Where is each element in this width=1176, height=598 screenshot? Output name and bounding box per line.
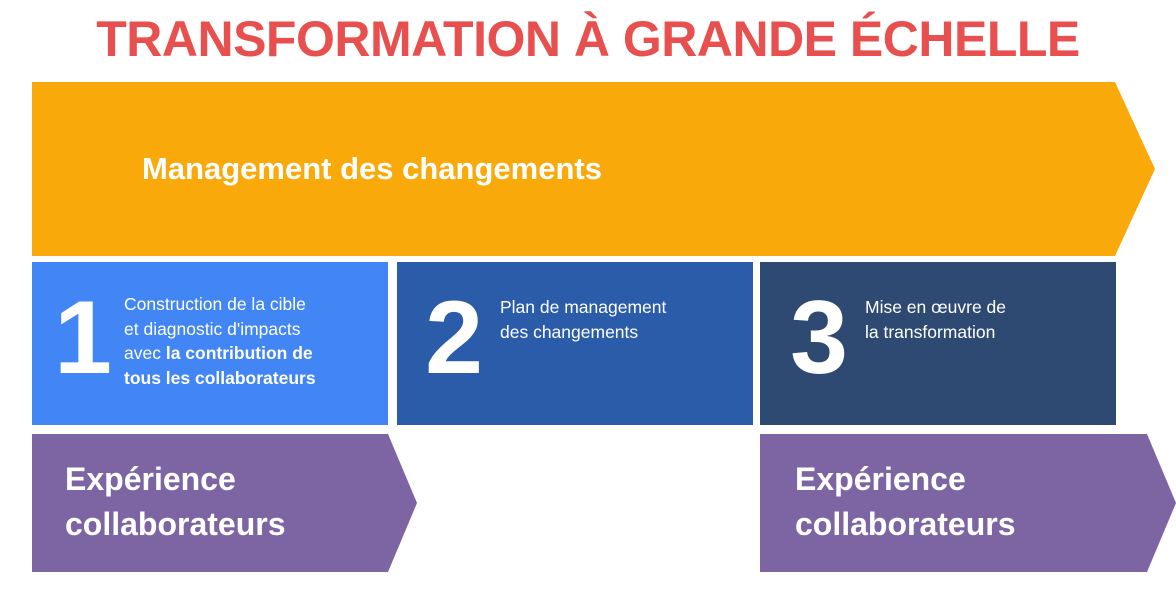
- step-1-line-4: tous les collaborateurs: [124, 368, 316, 388]
- change-management-banner-label: Management des changements: [142, 150, 602, 188]
- step-2-line-1: Plan de management: [500, 297, 666, 317]
- experience-arrow-left: Expérience collaborateurs: [32, 434, 417, 572]
- experience-left-line-1: Expérience: [65, 461, 236, 497]
- step-number-3: 3: [780, 276, 856, 400]
- step-1-line-3-prefix: avec: [124, 343, 166, 363]
- experience-right-line-2: collaborateurs: [795, 506, 1016, 542]
- step-1-line-2: et diagnostic d'impacts: [124, 319, 301, 339]
- steps-row: 1 Construction de la cible et diagnostic…: [32, 262, 1116, 425]
- step-box-2[interactable]: 2 Plan de management des changements: [397, 262, 753, 425]
- experience-arrow-right: Expérience collaborateurs: [760, 434, 1176, 572]
- experience-arrow-left-label: Expérience collaborateurs: [65, 457, 286, 547]
- step-3-line-1: Mise en œuvre de: [865, 297, 1006, 317]
- step-text-2: Plan de management des changements: [500, 295, 752, 344]
- step-1-line-1: Construction de la cible: [124, 294, 306, 314]
- step-2-line-2: des changements: [500, 322, 638, 342]
- page-title: TRANSFORMATION À GRANDE ÉCHELLE: [0, 8, 1176, 70]
- step-text-1: Construction de la cible et diagnostic d…: [124, 292, 376, 390]
- step-1-line-3-emphasis: la contribution de: [166, 343, 313, 363]
- step-number-2: 2: [415, 276, 491, 400]
- step-box-1[interactable]: 1 Construction de la cible et diagnostic…: [32, 262, 388, 425]
- experience-arrow-right-label: Expérience collaborateurs: [795, 457, 1016, 547]
- step-box-3[interactable]: 3 Mise en œuvre de la transformation: [760, 262, 1116, 425]
- slide-canvas: TRANSFORMATION À GRANDE ÉCHELLE Manageme…: [0, 0, 1176, 598]
- experience-right-line-1: Expérience: [795, 461, 966, 497]
- change-management-banner: Management des changements: [32, 82, 1155, 256]
- step-number-1: 1: [44, 276, 120, 400]
- experience-left-line-2: collaborateurs: [65, 506, 286, 542]
- step-3-line-2: la transformation: [865, 322, 995, 342]
- step-text-3: Mise en œuvre de la transformation: [865, 295, 1116, 344]
